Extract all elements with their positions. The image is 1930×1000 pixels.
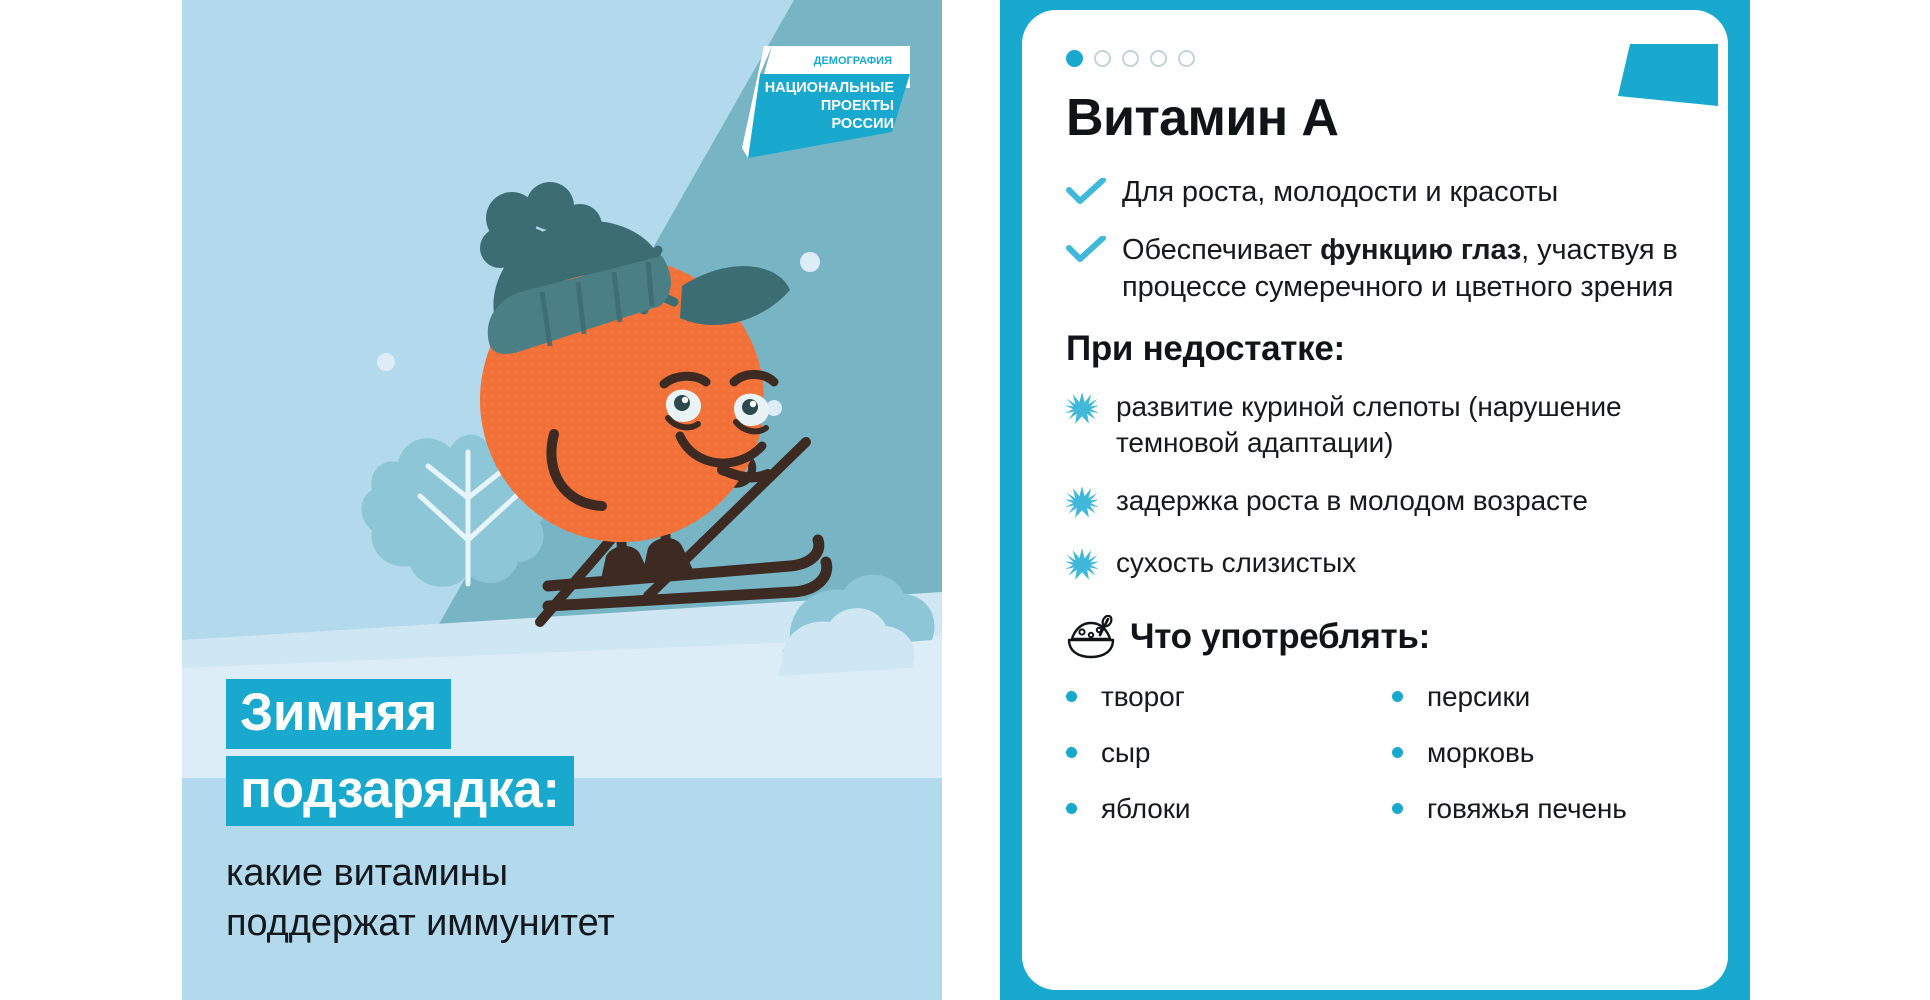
benefits-list: Для роста, молодости и красоты Обеспечив… [1066, 174, 1698, 307]
benefit-text-before: Обеспечивает [1122, 234, 1320, 266]
deficiency-item: сухость слизистых [1066, 545, 1698, 585]
starburst-icon [1066, 545, 1098, 585]
snow-dot [800, 252, 820, 272]
card-panel: Витамин А Для роста, молодости и красоты [1000, 0, 1750, 1000]
starburst-icon [1066, 389, 1098, 429]
deficiency-text: задержка роста в молодом возрасте [1116, 483, 1588, 519]
benefit-text: Обеспечивает функцию глаз, участвуя в пр… [1122, 232, 1698, 307]
national-projects-logo: ДЕМОГРАФИЯ НАЦИОНАЛЬНЫЕ ПРОЕКТЫ РОССИИ [742, 28, 910, 158]
bullet-icon [1392, 803, 1403, 814]
eat-heading-row: Что употреблять: [1066, 615, 1698, 659]
logo-line-2: ПРОЕКТЫ [821, 98, 894, 114]
pagination-dot-3[interactable] [1122, 50, 1139, 67]
pagination-dot-4[interactable] [1150, 50, 1167, 67]
food-label: персики [1427, 681, 1530, 713]
pagination-dots[interactable] [1066, 50, 1195, 67]
benefit-item: Для роста, молодости и красоты [1066, 174, 1698, 212]
poster-caption: Зимняя подзарядка: какие витамины поддер… [226, 679, 926, 948]
subtitle-line-2: поддержат иммунитет [226, 899, 926, 948]
pagination-dot-2[interactable] [1094, 50, 1111, 67]
food-item: творог [1066, 681, 1372, 713]
foods-grid: творог персики сыр морковь [1066, 681, 1698, 825]
card-title: Витамин А [1066, 88, 1698, 148]
bullet-icon [1066, 691, 1077, 702]
check-icon [1066, 232, 1106, 269]
poster-page: ДЕМОГРАФИЯ НАЦИОНАЛЬНЫЕ ПРОЕКТЫ РОССИИ З… [0, 0, 1930, 1000]
deficiency-item: развитие куриной слепоты (нарушение темн… [1066, 389, 1698, 461]
food-label: творог [1101, 681, 1185, 713]
vitamin-card: Витамин А Для роста, молодости и красоты [1022, 10, 1728, 990]
bowl-icon [1066, 615, 1116, 659]
bullet-icon [1392, 691, 1403, 702]
logo-line-3: РОССИИ [831, 116, 894, 132]
bullet-icon [1066, 747, 1077, 758]
deficiency-item: задержка роста в молодом возрасте [1066, 483, 1698, 523]
poster-left: ДЕМОГРАФИЯ НАЦИОНАЛЬНЫЕ ПРОЕКТЫ РОССИИ З… [182, 0, 942, 1000]
food-item: морковь [1392, 737, 1698, 769]
food-label: морковь [1427, 737, 1534, 769]
benefit-item: Обеспечивает функцию глаз, участвуя в пр… [1066, 232, 1698, 307]
snow-dot [377, 353, 395, 371]
food-item: говяжья печень [1392, 793, 1698, 825]
pagination-dot-1[interactable] [1066, 50, 1083, 67]
headline-line-1: Зимняя [226, 679, 451, 749]
pagination-dot-5[interactable] [1178, 50, 1195, 67]
card-content: Витамин А Для роста, молодости и красоты [1066, 88, 1698, 825]
food-item: сыр [1066, 737, 1372, 769]
starburst-icon [1066, 483, 1098, 523]
subtitle-line-1: какие витамины [226, 849, 926, 898]
deficiency-text: развитие куриной слепоты (нарушение темн… [1116, 389, 1698, 461]
benefit-text-bold: функцию глаз [1320, 234, 1521, 266]
food-item: яблоки [1066, 793, 1372, 825]
bullet-icon [1392, 747, 1403, 758]
benefit-text-main: Для роста, молодости и красоты [1122, 176, 1558, 208]
logo-top-label: ДЕМОГРАФИЯ [814, 55, 892, 67]
eat-heading: Что употреблять: [1130, 617, 1430, 657]
food-label: яблоки [1101, 793, 1190, 825]
deficiency-heading: При недостатке: [1066, 329, 1698, 369]
food-label: сыр [1101, 737, 1150, 769]
deficiency-list: развитие куриной слепоты (нарушение темн… [1066, 389, 1698, 585]
headline-line-2: подзарядка: [226, 756, 574, 826]
check-icon [1066, 174, 1106, 211]
logo-line-1: НАЦИОНАЛЬНЫЕ [765, 80, 895, 96]
benefit-text: Для роста, молодости и красоты [1122, 174, 1558, 212]
bullet-icon [1066, 803, 1077, 814]
food-label: говяжья печень [1427, 793, 1627, 825]
poster-subtitle: какие витамины поддержат иммунитет [226, 849, 926, 948]
food-item: персики [1392, 681, 1698, 713]
deficiency-text: сухость слизистых [1116, 545, 1356, 581]
